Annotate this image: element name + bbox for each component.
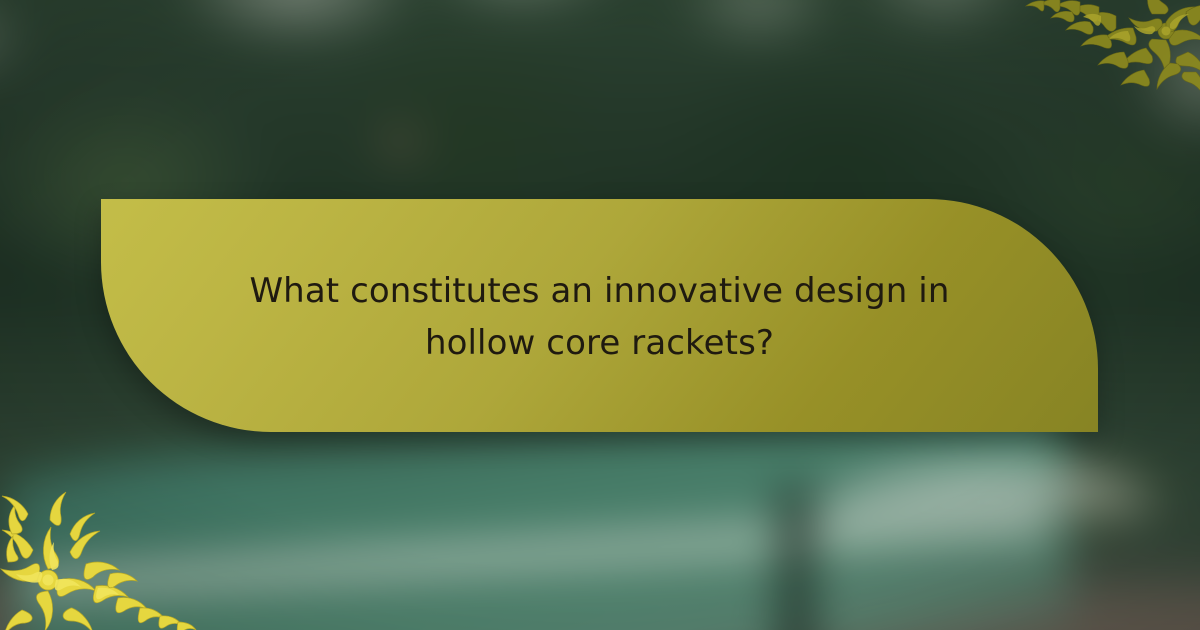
quote-card-banner: What constitutes an innovative design in… (0, 0, 1200, 630)
card-heading: What constitutes an innovative design in… (220, 266, 980, 369)
quote-card: What constitutes an innovative design in… (101, 199, 1098, 432)
background-table-leg (780, 488, 814, 630)
